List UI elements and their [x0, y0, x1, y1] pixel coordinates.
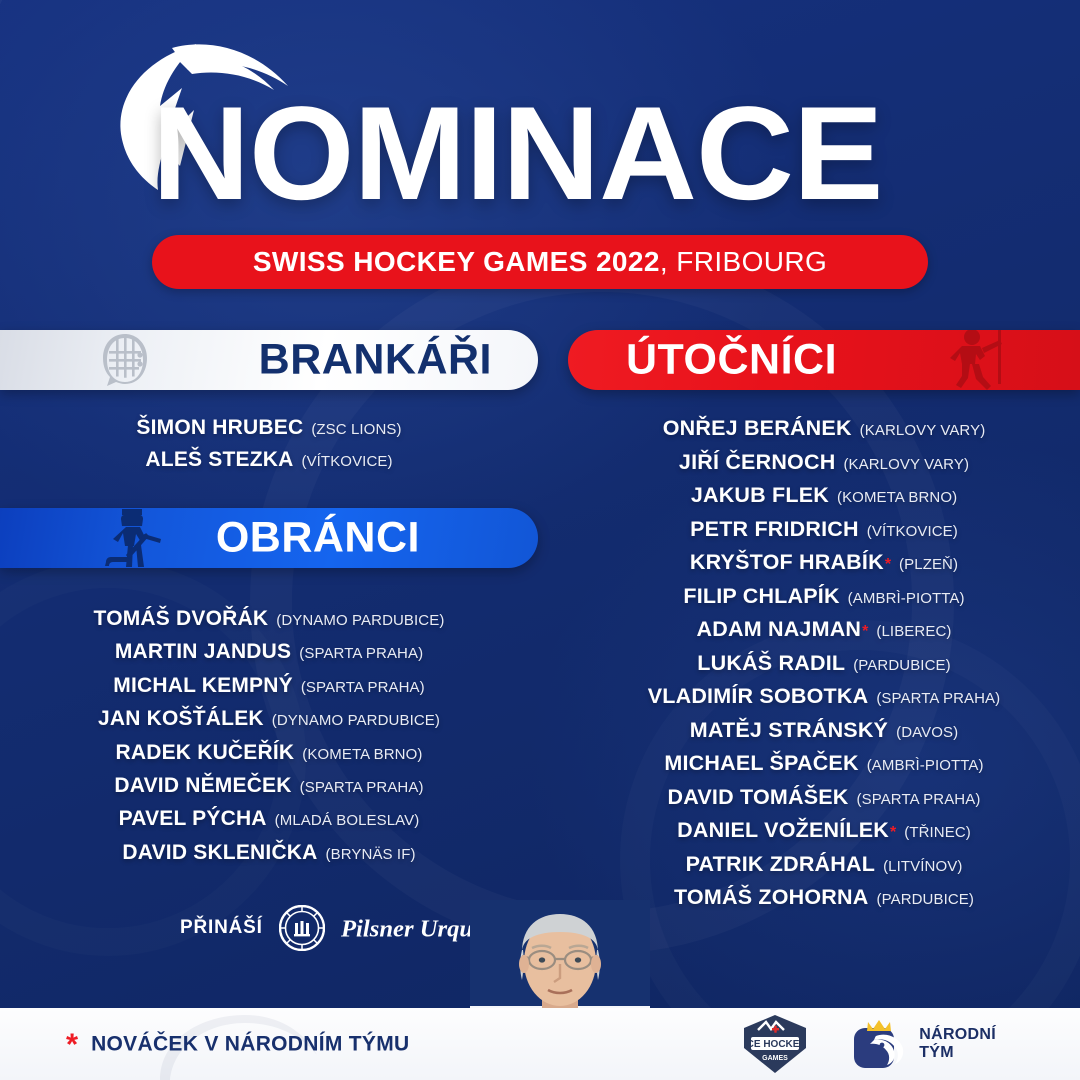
player-name: PETR FRIDRICH [690, 517, 859, 542]
player-club: (SPARTA PRAHA) [301, 679, 425, 696]
rookie-star-icon: * [890, 824, 896, 842]
player-club: (KARLOVY VARY) [860, 422, 986, 439]
player-name: JAN KOŠŤÁLEK [98, 707, 264, 731]
event-subtitle-banner: SWISS HOCKEY GAMES 2022, FRIBOURG [152, 235, 928, 289]
player-name: ALEŠ STEZKA [145, 448, 293, 472]
player-club: (SPARTA PRAHA) [299, 645, 423, 662]
player-name: FILIP CHLAPÍK [683, 584, 839, 609]
poster-header: NOMINACE SWISS HOCKEY GAMES 2022, FRIBOU… [0, 0, 1080, 310]
player-name: MICHAL KEMPNÝ [113, 674, 293, 698]
player-name: MARTIN JANDUS [115, 640, 291, 664]
player-row: DANIEL VOŽENÍLEK*(TŘINEC) [568, 818, 1080, 852]
swiss-ice-hockey-games-logo: ICE HOCKEY GAMES [742, 1014, 808, 1074]
svg-text:GAMES: GAMES [762, 1055, 788, 1062]
player-name: DANIEL VOŽENÍLEK [677, 818, 889, 843]
national-team-line2: TÝM [919, 1044, 996, 1062]
player-name: TOMÁŠ DVOŘÁK [94, 607, 269, 631]
player-club: (KARLOVY VARY) [843, 456, 969, 473]
section-label-goalies: BRANKÁŘI [259, 336, 492, 385]
player-club: (AMBRÌ-PIOTTA) [848, 590, 965, 607]
player-name: ADAM NAJMAN [697, 617, 862, 642]
player-name: TOMÁŠ ZOHORNA [674, 885, 869, 910]
hockey-defender-icon [100, 508, 164, 568]
player-row: MICHAL KEMPNÝ(SPARTA PRAHA) [0, 674, 538, 707]
player-club: (PLZEŇ) [899, 556, 958, 573]
player-name: DAVID NĚMEČEK [114, 774, 291, 798]
player-club: (KOMETA BRNO) [302, 746, 422, 763]
player-club: (SPARTA PRAHA) [876, 690, 1000, 707]
player-name: DAVID SKLENIČKA [122, 841, 317, 865]
poster-footer: * NOVÁČEK V NÁRODNÍM TÝMU ICE HOCKEY GAM… [0, 1008, 1080, 1080]
player-row: PAVEL PÝCHA(MLADÁ BOLESLAV) [0, 807, 538, 840]
section-label-defenders: OBRÁNCI [216, 514, 420, 563]
player-club: (SPARTA PRAHA) [300, 779, 424, 796]
player-row: FILIP CHLAPÍK(AMBRÌ-PIOTTA) [568, 584, 1080, 618]
player-club: (LIBEREC) [876, 623, 951, 640]
svg-text:ICE HOCKEY: ICE HOCKEY [744, 1039, 807, 1050]
event-name: SWISS HOCKEY GAMES 2022 [253, 246, 660, 278]
sponsor-block: PŘINÁŠÍ Pilsner Urquell. [180, 905, 519, 951]
player-row: JAN KOŠŤÁLEK(DYNAMO PARDUBICE) [0, 707, 538, 740]
player-row: PETR FRIDRICH(VÍTKOVICE) [568, 517, 1080, 551]
player-name: LUKÁŠ RADIL [697, 651, 845, 676]
national-team-wordmark: NÁRODNÍ TÝM [919, 1026, 996, 1062]
player-club: (DYNAMO PARDUBICE) [272, 712, 440, 729]
player-name: KRYŠTOF HRABÍK [690, 550, 884, 575]
nomination-poster: NOMINACE SWISS HOCKEY GAMES 2022, FRIBOU… [0, 0, 1080, 1080]
rookie-star-icon: * [862, 623, 868, 641]
player-row: PATRIK ZDRÁHAL(LITVÍNOV) [568, 852, 1080, 886]
player-row: ADAM NAJMAN*(LIBEREC) [568, 617, 1080, 651]
czech-national-team-logo: NÁRODNÍ TÝM [852, 1018, 996, 1070]
rookie-star-icon: * [885, 556, 891, 574]
czech-national-team-lion-logo [852, 1018, 908, 1070]
player-name: ONŘEJ BERÁNEK [663, 416, 852, 441]
player-row: MATĚJ STRÁNSKÝ(DAVOS) [568, 718, 1080, 752]
player-row: TOMÁŠ DVOŘÁK(DYNAMO PARDUBICE) [0, 607, 538, 640]
defenders-list: TOMÁŠ DVOŘÁK(DYNAMO PARDUBICE)MARTIN JAN… [0, 607, 538, 874]
hockey-forward-icon [942, 330, 1008, 390]
player-club: (PARDUBICE) [853, 657, 951, 674]
event-city: , FRIBOURG [660, 246, 827, 278]
player-name: PATRIK ZDRÁHAL [686, 852, 876, 877]
sponsor-presented-by-label: PŘINÁŠÍ [180, 917, 263, 939]
player-name: ŠIMON HRUBEC [136, 416, 303, 440]
footer-logos: ICE HOCKEY GAMES NÁRODNÍ TÝM [742, 1014, 996, 1074]
pilsner-seal-icon [279, 905, 325, 951]
page-title: NOMINACE [152, 92, 968, 217]
player-row: LUKÁŠ RADIL(PARDUBICE) [568, 651, 1080, 685]
player-row: MARTIN JANDUS(SPARTA PRAHA) [0, 640, 538, 673]
player-row: DAVID SKLENIČKA(BRYNÄS IF) [0, 841, 538, 874]
player-club: (VÍTKOVICE) [867, 523, 958, 540]
player-row: DAVID TOMÁŠEK(SPARTA PRAHA) [568, 785, 1080, 819]
player-club: (SPARTA PRAHA) [857, 791, 981, 808]
goalies-list: ŠIMON HRUBEC(ZSC LIONS)ALEŠ STEZKA(VÍTKO… [0, 416, 538, 480]
player-club: (TŘINEC) [904, 824, 971, 841]
section-header-forwards: ÚTOČNÍCI [568, 330, 1080, 390]
player-club: (LITVÍNOV) [883, 858, 962, 875]
player-name: DAVID TOMÁŠEK [668, 785, 849, 810]
player-row: KRYŠTOF HRABÍK*(PLZEŇ) [568, 550, 1080, 584]
player-club: (DYNAMO PARDUBICE) [276, 612, 444, 629]
player-club: (AMBRÌ-PIOTTA) [867, 757, 984, 774]
player-row: VLADIMÍR SOBOTKA(SPARTA PRAHA) [568, 684, 1080, 718]
rookie-star-icon: * [66, 1029, 78, 1060]
player-name: MICHAEL ŠPAČEK [664, 751, 858, 776]
national-team-line1: NÁRODNÍ [919, 1026, 996, 1044]
player-name: MATĚJ STRÁNSKÝ [690, 718, 888, 743]
section-header-goalies: BRANKÁŘI [0, 330, 538, 390]
player-name: JAKUB FLEK [691, 483, 829, 508]
player-row: MICHAEL ŠPAČEK(AMBRÌ-PIOTTA) [568, 751, 1080, 785]
player-row: DAVID NĚMEČEK(SPARTA PRAHA) [0, 774, 538, 807]
player-row: RADEK KUČEŘÍK(KOMETA BRNO) [0, 741, 538, 774]
player-club: (VÍTKOVICE) [301, 453, 392, 470]
player-row: JAKUB FLEK(KOMETA BRNO) [568, 483, 1080, 517]
player-name: RADEK KUČEŘÍK [116, 741, 295, 765]
section-label-forwards: ÚTOČNÍCI [626, 336, 837, 385]
player-row: ŠIMON HRUBEC(ZSC LIONS) [0, 416, 538, 448]
goalie-mask-icon [96, 331, 154, 389]
player-club: (PARDUBICE) [877, 891, 975, 908]
rookie-legend-text: NOVÁČEK V NÁRODNÍM TÝMU [91, 1032, 409, 1056]
player-name: VLADIMÍR SOBOTKA [648, 684, 869, 709]
player-name: JIŘÍ ČERNOCH [679, 450, 836, 475]
player-row: JIŘÍ ČERNOCH(KARLOVY VARY) [568, 450, 1080, 484]
player-club: (KOMETA BRNO) [837, 489, 957, 506]
forwards-list: ONŘEJ BERÁNEK(KARLOVY VARY)JIŘÍ ČERNOCH(… [568, 416, 1080, 919]
player-name: PAVEL PÝCHA [119, 807, 267, 831]
rookie-legend: * NOVÁČEK V NÁRODNÍM TÝMU [66, 1029, 409, 1060]
player-club: (MLADÁ BOLESLAV) [275, 812, 420, 829]
player-row: ALEŠ STEZKA(VÍTKOVICE) [0, 448, 538, 480]
player-club: (DAVOS) [896, 724, 958, 741]
player-row: ONŘEJ BERÁNEK(KARLOVY VARY) [568, 416, 1080, 450]
section-header-defenders: OBRÁNCI [0, 508, 538, 568]
player-club: (BRYNÄS IF) [326, 846, 416, 863]
player-club: (ZSC LIONS) [311, 421, 401, 438]
